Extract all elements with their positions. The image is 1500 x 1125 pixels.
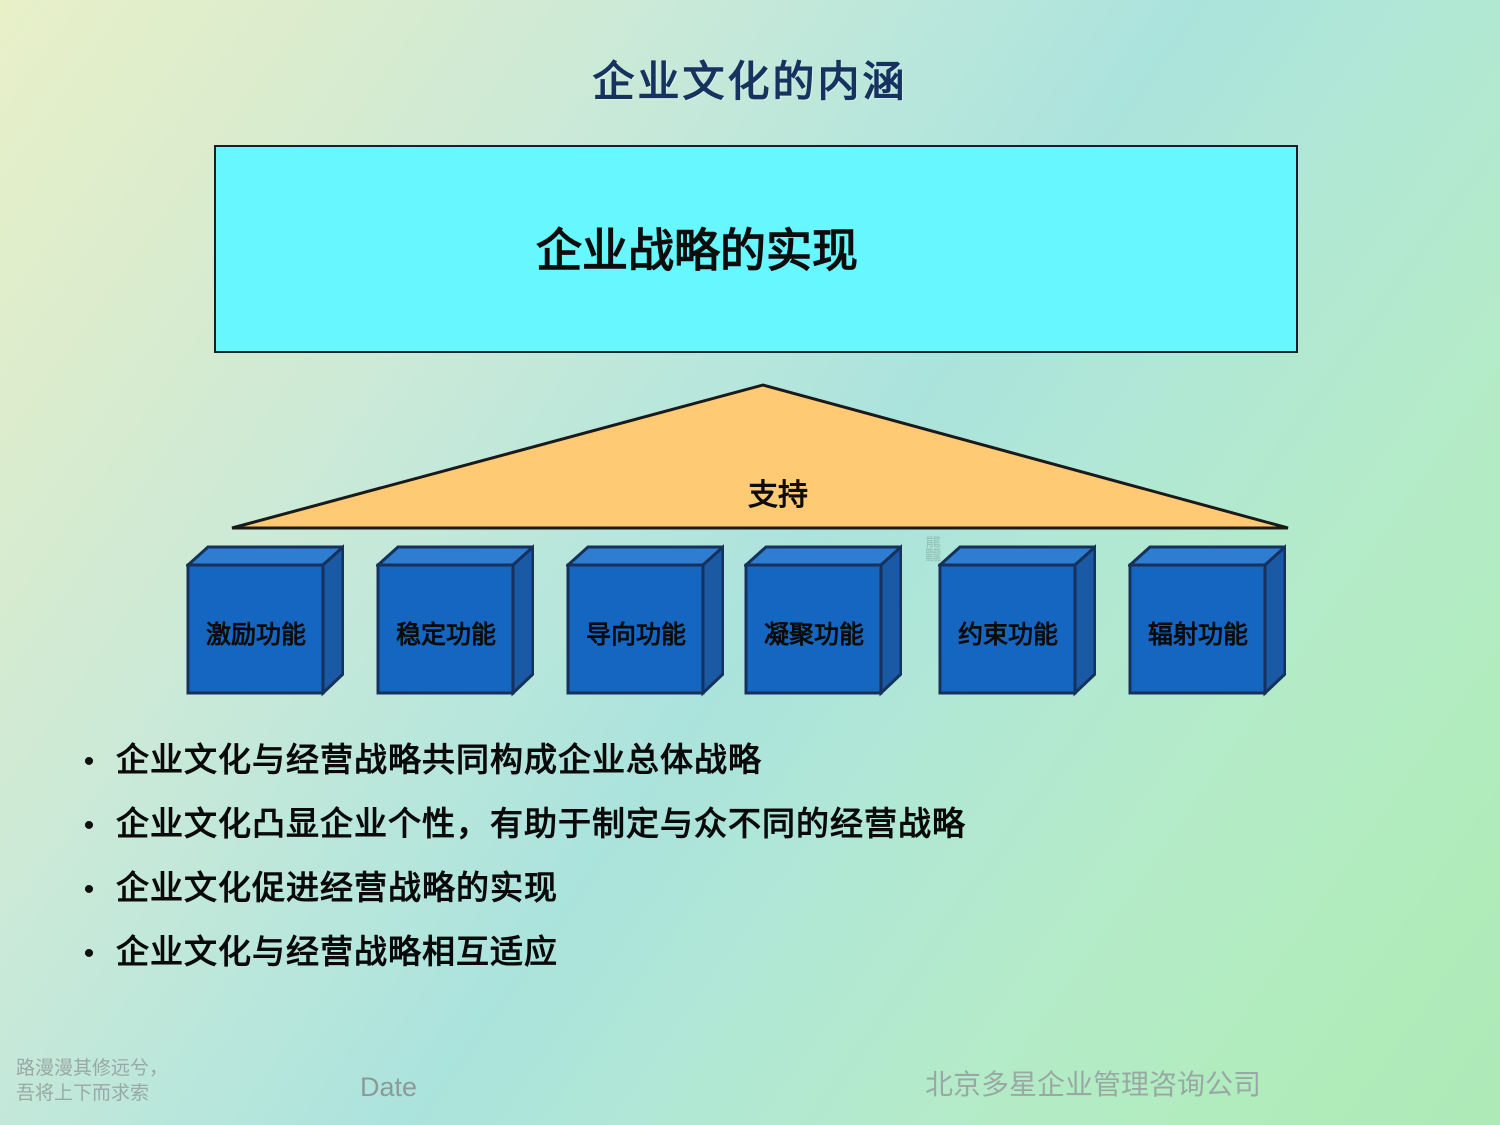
bullet-text: 企业文化凸显企业个性，有助于制定与众不同的经营战略 — [116, 797, 966, 845]
footer-motto-line2: 吾将上下而求索 — [16, 1081, 168, 1107]
strategy-box-label: 企业战略的实现 — [216, 215, 1296, 281]
bullet-text: 企业文化与经营战略相互适应 — [116, 925, 558, 973]
cube-shape — [744, 543, 902, 698]
cube-shape — [186, 543, 344, 698]
cube-shape — [1128, 543, 1286, 698]
list-item: • 企业文化凸显企业个性，有助于制定与众不同的经营战略 — [62, 797, 1462, 845]
function-cube-2: 稳定功能 — [376, 543, 534, 698]
function-cube-4: 凝聚功能 — [744, 543, 902, 698]
bullet-marker-icon: • — [62, 936, 116, 972]
page-title: 企业文化的内涵 — [0, 48, 1500, 109]
bullet-text: 企业文化促进经营战略的实现 — [116, 861, 558, 909]
bullet-list: • 企业文化与经营战略共同构成企业总体战略 • 企业文化凸显企业个性，有助于制定… — [62, 733, 1462, 989]
function-cube-1: 激励功能 — [186, 543, 344, 698]
triangle-shape — [228, 380, 1292, 532]
function-cube-6: 辐射功能 — [1128, 543, 1286, 698]
function-cube-3: 导向功能 — [566, 543, 724, 698]
list-item: • 企业文化与经营战略共同构成企业总体战略 — [62, 733, 1462, 781]
function-cube-row: 激励功能 稳定功能 导向功能 凝聚功能 — [186, 543, 1316, 703]
cube-shape — [566, 543, 724, 698]
function-cube-5: 约束功能 — [938, 543, 1096, 698]
support-triangle: 支持 — [228, 380, 1292, 532]
list-item: • 企业文化与经营战略相互适应 — [62, 925, 1462, 973]
cube-shape — [938, 543, 1096, 698]
cube-shape — [376, 543, 534, 698]
list-item: • 企业文化促进经营战略的实现 — [62, 861, 1462, 909]
strategy-box: 企业战略的实现 — [214, 145, 1298, 353]
bullet-marker-icon: • — [62, 744, 116, 780]
bullet-marker-icon: • — [62, 872, 116, 908]
bullet-marker-icon: • — [62, 808, 116, 844]
slide-canvas: 企业文化的内涵 企业战略的实现 支持 激励功能 稳定功能 — [0, 0, 1500, 1125]
footer-motto: 路漫漫其修远兮， 吾将上下而求索 — [16, 1056, 168, 1107]
footer-date: Date — [360, 1072, 417, 1103]
footer-company: 北京多星企业管理咨询公司 — [925, 1063, 1261, 1103]
bullet-text: 企业文化与经营战略共同构成企业总体战略 — [116, 733, 762, 781]
footer-motto-line1: 路漫漫其修远兮， — [16, 1056, 168, 1082]
